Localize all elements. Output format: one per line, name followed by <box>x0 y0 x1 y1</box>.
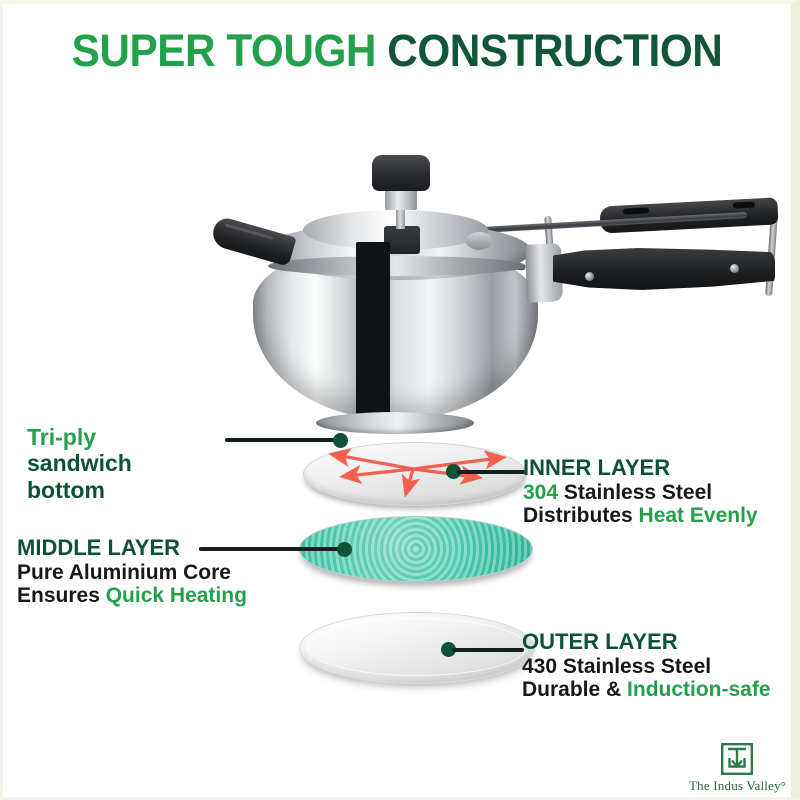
body-handle <box>553 248 775 290</box>
tri-ply-line2: bottom <box>27 477 132 503</box>
middle-layer-heading: MIDDLE LAYER <box>17 536 247 561</box>
callout-label-inner-layer: INNER LAYER 304 Stainless Steel Distribu… <box>523 456 758 528</box>
handle-rivet-icon <box>585 272 594 281</box>
pressure-regulator-knob <box>372 155 430 191</box>
middle-layer-benefit-prefix: Ensures <box>17 584 106 607</box>
inner-layer-disc <box>303 442 527 506</box>
safety-valve-icon <box>466 232 492 250</box>
brand-logo: The Indus Valley° <box>689 742 785 794</box>
tri-ply-rest: sandwich <box>27 450 132 476</box>
callout-line-outer-layer <box>452 648 524 652</box>
pressure-cooker-image <box>208 144 798 464</box>
knob-neck <box>385 188 417 210</box>
inner-layer-grade: 304 <box>523 481 558 504</box>
title-part-2: CONSTRUCTION <box>387 25 722 76</box>
cooker-lid-rim <box>268 256 526 276</box>
callout-label-tri-ply: Tri-ply sandwich bottom <box>27 424 132 503</box>
inner-layer-heading: INNER LAYER <box>523 456 758 481</box>
outer-layer-benefit-highlight: Induction-safe <box>627 678 771 701</box>
callout-line-tri-ply <box>225 438 340 442</box>
knob-stem <box>396 207 405 229</box>
indus-valley-emblem-icon <box>720 742 754 776</box>
cooker-base-ring <box>316 412 474 434</box>
callout-label-outer-layer: OUTER LAYER 430 Stainless Steel Durable … <box>522 630 771 702</box>
inner-layer-material: Stainless Steel <box>558 481 712 504</box>
lid-handle-slot2-icon <box>733 201 755 208</box>
page-title: SUPER TOUGH CONSTRUCTION <box>27 28 768 73</box>
callout-dot-middle-layer <box>337 542 352 557</box>
callout-line-inner-layer <box>457 470 525 474</box>
outer-layer-material: 430 Stainless Steel <box>522 655 771 679</box>
outer-layer-heading: OUTER LAYER <box>522 630 771 655</box>
callout-dot-tri-ply <box>333 433 348 448</box>
tri-ply-highlight: Tri-ply <box>27 424 96 450</box>
infographic-canvas: SUPER TOUGH CONSTRUCTION <box>0 0 800 800</box>
middle-layer-benefit-highlight: Quick Heating <box>106 584 247 607</box>
outer-layer-benefit-prefix: Durable & <box>522 678 627 701</box>
brand-name: The Indus Valley° <box>689 778 785 794</box>
handle-rivet-icon <box>730 264 739 273</box>
callout-label-middle-layer: MIDDLE LAYER Pure Aluminium Core Ensures… <box>17 536 247 608</box>
body-reflection-band <box>356 242 390 424</box>
middle-layer-material: Pure Aluminium Core <box>17 561 247 585</box>
title-part-1: SUPER TOUGH <box>72 25 376 76</box>
left-side-handle <box>209 215 296 266</box>
inner-layer-benefit-prefix: Distributes <box>523 504 639 527</box>
inner-layer-benefit-highlight: Heat Evenly <box>639 504 758 527</box>
